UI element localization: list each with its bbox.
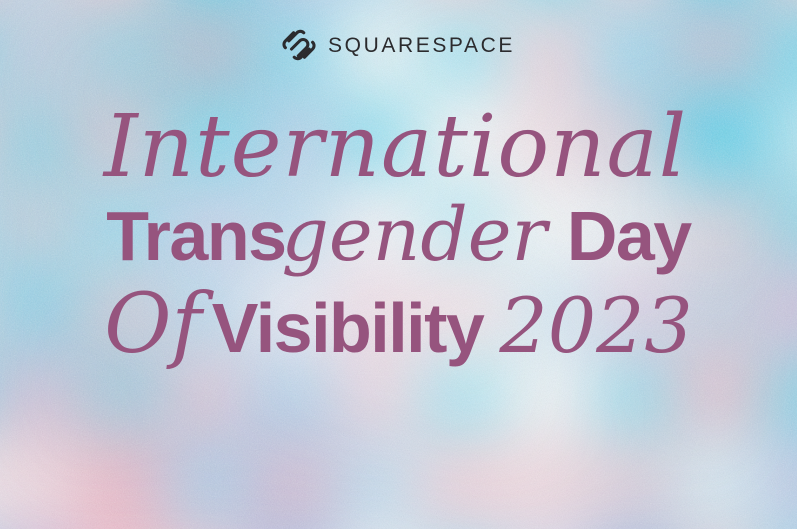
headline-line-2: Transgender Day bbox=[0, 198, 797, 272]
squarespace-logo-icon bbox=[282, 28, 316, 62]
squarespace-wordmark: SQUARESPACE bbox=[328, 35, 515, 56]
promo-graphic: SQUARESPACE International Transgender Da… bbox=[0, 0, 797, 529]
squarespace-logo: SQUARESPACE bbox=[0, 28, 797, 62]
headline-word-day: Day bbox=[549, 197, 691, 275]
headline-word-year: 2023 bbox=[499, 281, 692, 370]
page-title: International Transgender Day OfVisibili… bbox=[0, 104, 797, 366]
headline-word-international: International bbox=[104, 97, 688, 197]
headline-line-3: OfVisibility2023 bbox=[0, 284, 797, 366]
headline-word-gender: gender bbox=[282, 192, 547, 278]
headline-word-of: Of bbox=[104, 277, 202, 372]
headline-word-trans: Trans bbox=[106, 197, 285, 275]
headline-line-1: International bbox=[0, 104, 797, 190]
headline-word-visibility: Visibility bbox=[212, 289, 484, 367]
